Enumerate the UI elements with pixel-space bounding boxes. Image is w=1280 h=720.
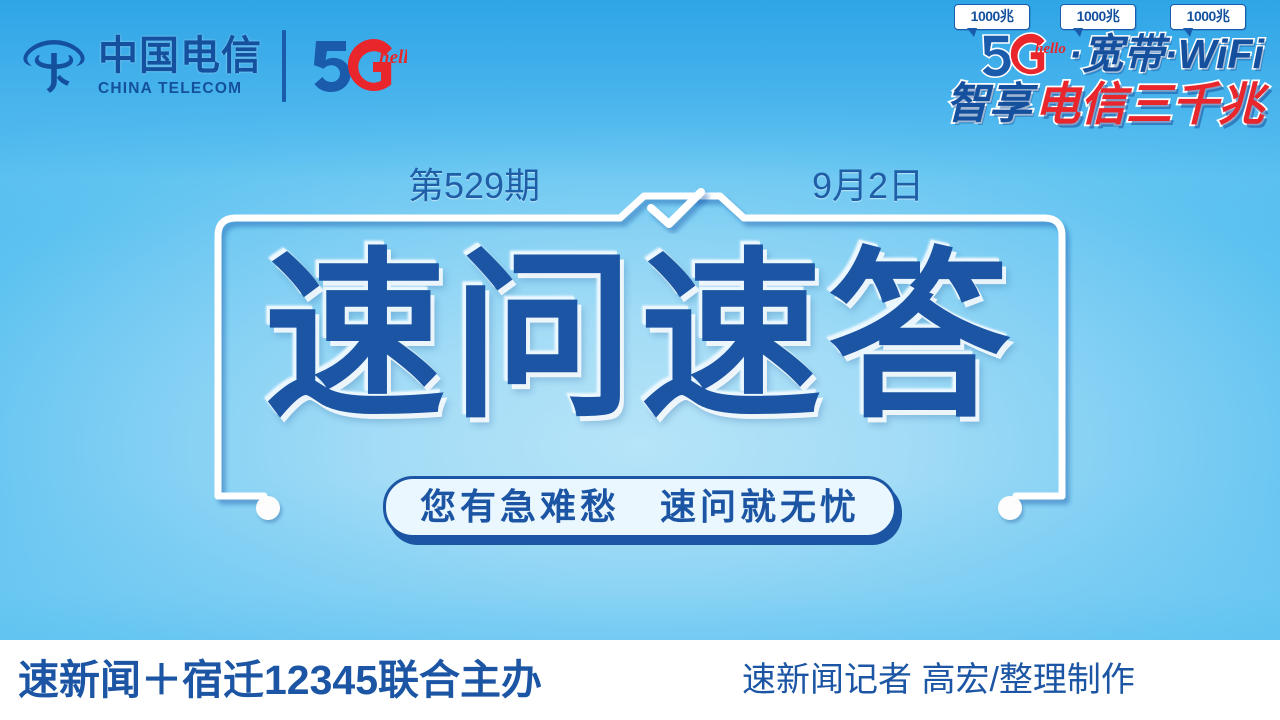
broadcast-date: 9月2日 <box>812 168 924 204</box>
footer-bar: 速新闻＋宿迁12345联合主办 速新闻记者 高宏/整理制作 <box>0 640 1280 720</box>
china-telecom-logo-icon <box>18 33 90 99</box>
page-title: 速问速答 <box>0 236 1280 440</box>
poster-canvas: 中国电信 CHINA TELECOM hello 1000兆 1000兆 100… <box>0 0 1280 720</box>
speed-badge: 1000兆 <box>954 4 1030 30</box>
brand-name-en: CHINA TELECOM <box>98 81 262 97</box>
brand-name-cn: 中国电信 <box>98 36 262 76</box>
svg-text:hello: hello <box>1035 41 1066 57</box>
promo-line-1: hello ·宽带·WiFi <box>914 28 1264 80</box>
promo-zhixiang-text: 智享 <box>946 83 1032 126</box>
issue-number: 第529期 <box>408 168 540 204</box>
promo-line-2: 智享 电信三千兆 <box>914 78 1264 130</box>
brand-wordmark: 中国电信 CHINA TELECOM <box>98 33 262 99</box>
brand-divider <box>282 30 286 102</box>
promo-three-giga-text: 电信三千兆 <box>1034 81 1264 127</box>
promo-fiveg-hello-icon: hello <box>971 29 1067 79</box>
brand-lockup: 中国电信 CHINA TELECOM hello <box>18 26 407 106</box>
footer-organizers: 速新闻＋宿迁12345联合主办 <box>18 660 542 701</box>
promo-block: 1000兆 1000兆 1000兆 hello ·宽带·WiFi 智享 电信三千… <box>914 4 1264 136</box>
footer-credit: 速新闻记者 高宏/整理制作 <box>742 663 1135 697</box>
subtitle-pill-row: 您有急难愁 速问就无忧 <box>0 470 1280 544</box>
subtitle-pill: 您有急难愁 速问就无忧 <box>383 476 897 538</box>
speed-badge: 1000兆 <box>1060 4 1136 30</box>
promo-broadband-wifi-text: ·宽带·WiFi <box>1069 34 1264 75</box>
fiveg-hello-logo-icon: hello <box>302 31 407 101</box>
subtitle-text: 您有急难愁 速问就无忧 <box>420 489 860 525</box>
svg-text:hello: hello <box>379 47 407 68</box>
speed-badge: 1000兆 <box>1170 4 1246 30</box>
